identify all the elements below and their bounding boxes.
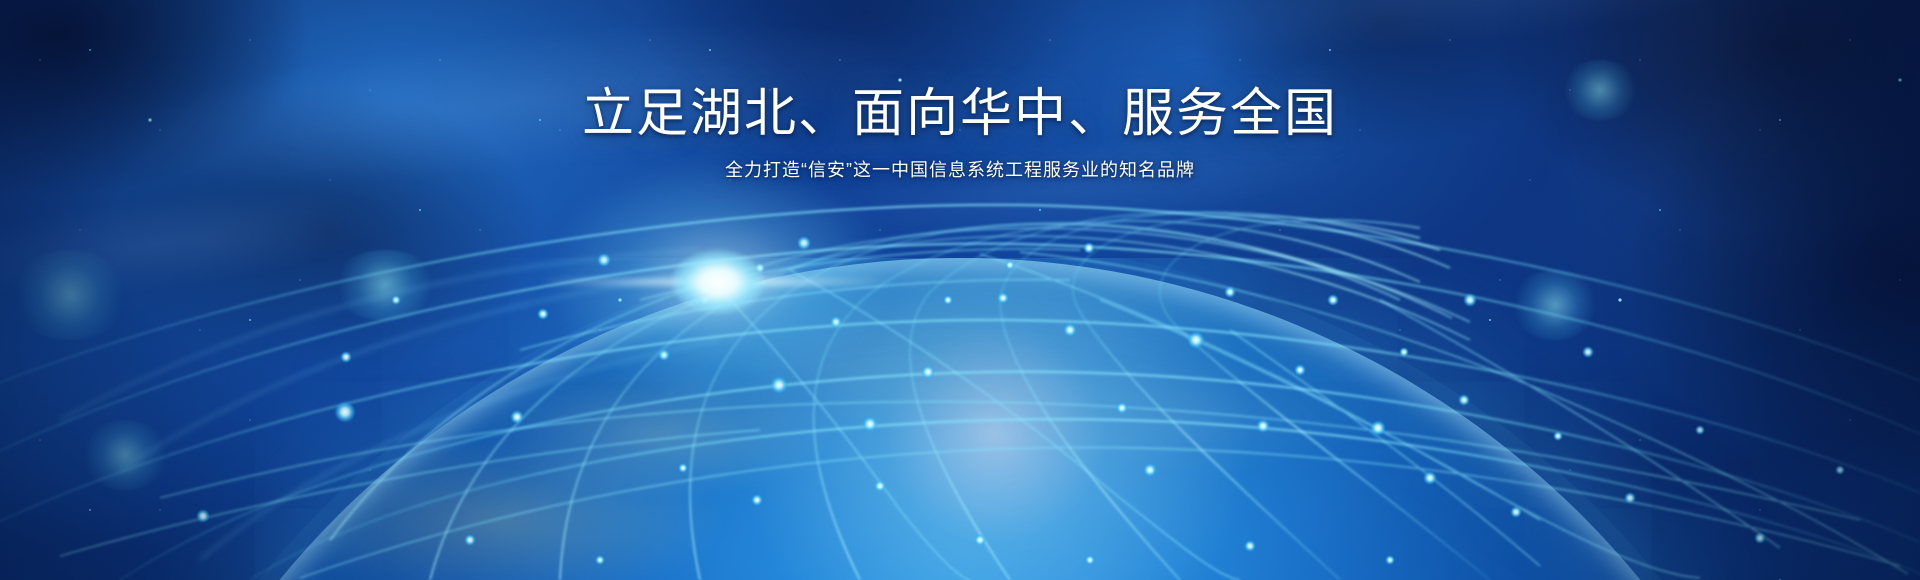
network-nodes	[196, 236, 1845, 565]
hero-banner: 立足湖北、面向华中、服务全国 全力打造“信安”这一中国信息系统工程服务业的知名品…	[0, 0, 1920, 580]
banner-text-block: 立足湖北、面向华中、服务全国 全力打造“信安”这一中国信息系统工程服务业的知名品…	[0, 0, 1920, 179]
banner-subheadline: 全力打造“信安”这一中国信息系统工程服务业的知名品牌	[0, 140, 1920, 179]
banner-headline: 立足湖北、面向华中、服务全国	[0, 0, 1920, 140]
